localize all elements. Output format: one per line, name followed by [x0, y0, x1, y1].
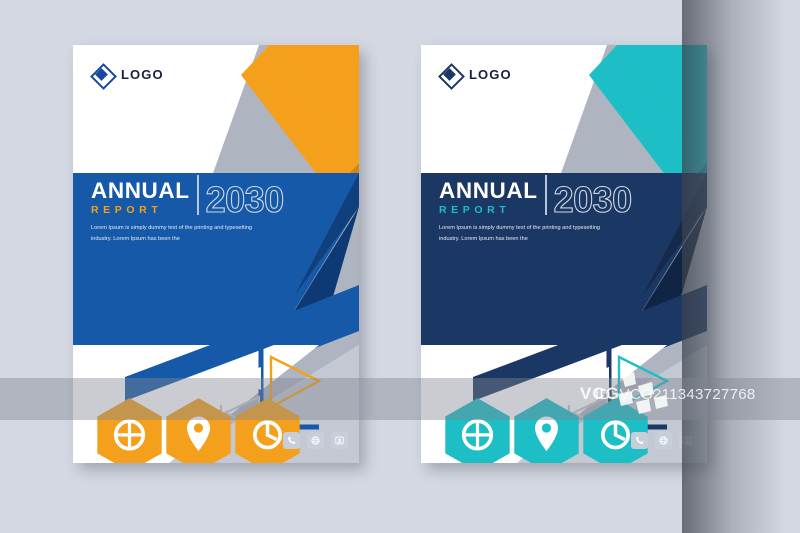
title-subtitle: REPORT — [439, 204, 538, 216]
logo-text: LOGO — [121, 67, 164, 82]
globe-icon[interactable] — [307, 432, 324, 449]
cover-page-blue-orange[interactable]: LOGO ANNUAL REPORT 2030 Lorem Ipsum is s… — [73, 45, 359, 463]
title-main: ANNUAL — [91, 180, 190, 202]
feature-item-growth-business[interactable]: Growth Business Lorem Ipsum is simply du… — [581, 378, 650, 463]
feature-item-growth-business[interactable]: Growth Business Lorem Ipsum is simply du… — [233, 378, 302, 463]
title-main: ANNUAL — [439, 180, 538, 202]
cover-a-title-block: ANNUAL REPORT 2030 Lorem Ipsum is simply… — [91, 175, 341, 246]
cover-b-features: Global Operations Lorem Ipsum is simply … — [443, 378, 651, 463]
title-line: ANNUAL REPORT 2030 — [91, 175, 341, 216]
cover-a-contacts — [283, 432, 348, 449]
poster-stage: LOGO ANNUAL REPORT 2030 Lorem Ipsum is s… — [0, 0, 800, 533]
title-divider — [545, 175, 547, 215]
cover-artwork-b: LOGO ANNUAL REPORT 2030 Lorem Ipsum is s… — [421, 45, 707, 463]
cover-artwork-a: LOGO ANNUAL REPORT 2030 Lorem Ipsum is s… — [73, 45, 359, 463]
address-card-icon[interactable] — [679, 432, 696, 449]
globe-hex-icon — [443, 378, 512, 463]
logo-text: LOGO — [469, 67, 512, 82]
pin-hex-icon — [512, 378, 581, 463]
diamond-logo-icon — [438, 63, 461, 86]
chart-hex-icon — [233, 378, 302, 463]
title-line: ANNUAL REPORT 2030 — [439, 175, 689, 216]
pin-hex-icon — [164, 378, 233, 463]
title-body-text: Lorem Ipsum is simply dummy text of the … — [91, 223, 269, 246]
diamond-logo-icon — [90, 63, 113, 86]
chart-hex-icon — [581, 378, 650, 463]
feature-item-global-operations[interactable]: Global Operations Lorem Ipsum is simply … — [443, 378, 512, 463]
phone-icon[interactable] — [631, 432, 648, 449]
cover-b-logo[interactable]: LOGO — [438, 63, 512, 86]
title-year: 2030 — [206, 185, 284, 216]
cover-b-title-block: ANNUAL REPORT 2030 Lorem Ipsum is simply… — [439, 175, 689, 246]
globe-hex-icon — [95, 378, 164, 463]
feature-item-global-operations[interactable]: Global Operations Lorem Ipsum is simply … — [95, 378, 164, 463]
title-year: 2030 — [554, 185, 632, 216]
cover-a-logo[interactable]: LOGO — [90, 63, 164, 86]
cover-a-features: Global Operations Lorem Ipsum is simply … — [95, 378, 303, 463]
address-card-icon[interactable] — [331, 432, 348, 449]
feature-item-target-audience[interactable]: Target Audience Lorem Ipsum is simply du… — [164, 378, 233, 463]
globe-icon[interactable] — [655, 432, 672, 449]
title-divider — [197, 175, 199, 215]
title-body-text: Lorem Ipsum is simply dummy text of the … — [439, 223, 617, 246]
title-subtitle: REPORT — [91, 204, 190, 216]
phone-icon[interactable] — [283, 432, 300, 449]
cover-page-navy-teal[interactable]: LOGO ANNUAL REPORT 2030 Lorem Ipsum is s… — [421, 45, 707, 463]
feature-item-target-audience[interactable]: Target Audience Lorem Ipsum is simply du… — [512, 378, 581, 463]
cover-b-contacts — [631, 432, 696, 449]
